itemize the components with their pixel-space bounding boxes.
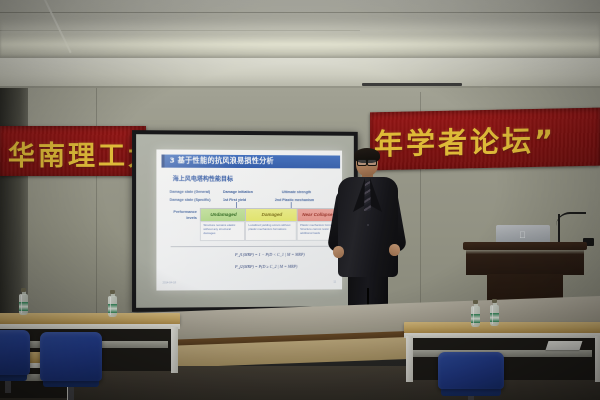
bottle-3: [471, 300, 480, 327]
slide-title-text: 3 基于性能的抗风浪易损性分析: [170, 156, 274, 167]
bottle-hi: [21, 295, 23, 313]
paper-sheet: [546, 341, 583, 350]
bottle-neck: [22, 291, 26, 295]
light-track: [362, 83, 462, 86]
bottle-cap: [492, 299, 497, 303]
bottle-cap: [110, 290, 115, 294]
bottle-2: [108, 290, 117, 317]
chair-right-1: [438, 352, 504, 400]
slide-header-2: Ultimate strength: [282, 190, 311, 194]
bottle-hi: [492, 306, 494, 324]
bottle-neck: [493, 302, 497, 306]
glasses-icon: [357, 159, 377, 164]
table-leg-1: [171, 327, 178, 373]
ceiling-soffit: [0, 58, 600, 88]
lecture-hall-photo: 华南理工大 年学者论坛” 3 基于性能的抗风浪易损性分析 海上风电塔构性能目标 …: [0, 0, 600, 400]
presenter-necktie: [364, 181, 371, 211]
performance-row-label-2: levels: [163, 216, 197, 220]
slide-formula-1: P_f2(MRP) = P(D ≥ C_2 | M = MRP): [235, 264, 297, 269]
slide-header-1: Damage initiation: [223, 190, 253, 194]
performance-row-label-1: Performance: [163, 210, 197, 214]
table-leg-1: [595, 336, 600, 382]
bottle-cap: [21, 288, 26, 292]
performance-level-bars: UndamagedDamagedNear Collapse: [156, 149, 342, 150]
banner-left-text: 华南理工大: [8, 134, 146, 173]
slide-header-specific-2: 2nd Plastic mechanism: [275, 198, 314, 202]
suit-button: [367, 224, 369, 226]
projection-screen-surface: 3 基于性能的抗风浪易损性分析 海上风电塔构性能目标 Damage state …: [136, 134, 354, 308]
slide-footer-date: 2014-04-18: [163, 281, 176, 284]
chair-backrest: [40, 332, 102, 381]
table-apron: [0, 324, 180, 329]
slide-header-0: Damage state (General): [170, 190, 210, 194]
chair-backrest: [438, 352, 504, 389]
podium-body: [466, 249, 584, 275]
cove-light: [0, 30, 600, 56]
bottle-hi: [110, 297, 112, 315]
wall-panel-line: [96, 88, 97, 318]
slide-header-specific-1: 1st First yield: [223, 198, 246, 202]
chair-left-1: [0, 330, 30, 392]
bottle-neck: [111, 293, 115, 297]
slide-formula-0: P_f1(MRP) = 1 − P(D < C_1 | M = MRP): [235, 252, 305, 257]
performance-level-label-2: Near Collapse: [302, 213, 332, 218]
slide-subtitle: 海上风电塔构性能目标: [173, 174, 233, 183]
presentation-slide: 3 基于性能的抗风浪易损性分析 海上风电塔构性能目标 Damage state …: [156, 149, 342, 290]
ceiling-seam: [0, 12, 600, 13]
bottle-1: [19, 288, 28, 315]
table-top: [404, 322, 600, 333]
presenter-right-hand: [389, 244, 400, 256]
slide-header-row-2: Damage state (Specific)1st First yield2n…: [156, 149, 342, 150]
table-leg-0: [406, 336, 413, 382]
bottle-neck: [474, 303, 478, 307]
slide-formulas: P_f1(MRP) = 1 − P(D < C_1 | M = MRP)P_f2…: [156, 149, 342, 150]
performance-description-1: Localized yielding occurs without plasti…: [245, 221, 297, 241]
slide-header-row-1: Damage state (General)Damage initiationU…: [156, 149, 342, 150]
banner-left: 华南理工大: [0, 126, 146, 176]
bottle-hi: [473, 307, 475, 325]
bottle-4: [490, 299, 499, 326]
apple-logo-icon: : [519, 231, 527, 240]
presenter-left-hand: [333, 246, 344, 258]
slide-header-specific-0: Damage state (Specific): [170, 198, 211, 202]
performance-level-label-0: Undamaged: [210, 213, 236, 218]
chair-backrest: [0, 330, 30, 375]
power-cable: [556, 212, 586, 228]
bottle-cap: [473, 300, 478, 304]
table-apron: [404, 333, 600, 338]
performance-description-0: Structure remains elastic without any st…: [200, 221, 245, 241]
projection-screen-frame: 3 基于性能的抗风浪易损性分析 海上风电塔构性能目标 Damage state …: [132, 130, 358, 312]
performance-level-descriptions: Structure remains elastic without any st…: [156, 149, 342, 150]
slide-title-bar: 3 基于性能的抗风浪易损性分析: [161, 155, 340, 169]
slide-divider: [171, 246, 331, 247]
performance-level-label-1: Damaged: [262, 213, 283, 218]
banner-right: 年学者论坛”: [370, 108, 600, 171]
chair-left-2: [40, 332, 102, 400]
